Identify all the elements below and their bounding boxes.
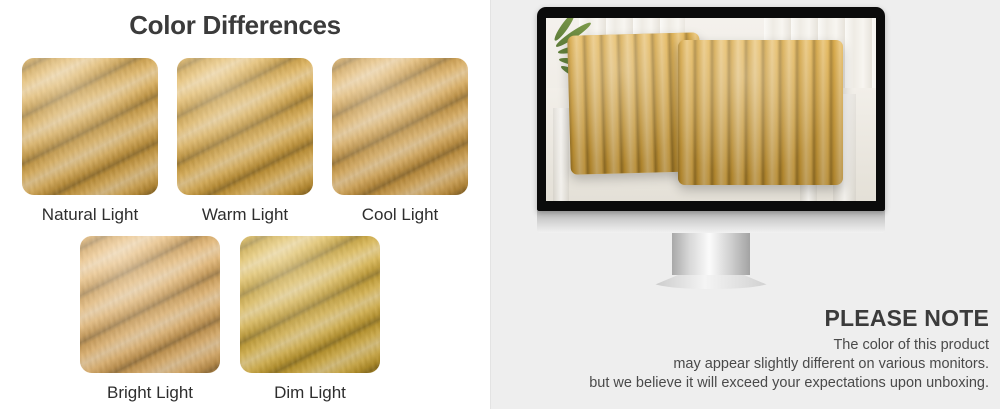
note-line-2: may appear slightly different on various… xyxy=(519,355,989,374)
swatch-cell-bright-light: Bright Light xyxy=(80,236,220,403)
monitor-stand-base xyxy=(652,275,770,289)
note-line-1: The color of this product xyxy=(519,336,989,355)
swatch-row-bottom: Bright Light Dim Light xyxy=(80,236,380,403)
monitor-bezel xyxy=(537,7,885,211)
note-line-3: but we believe it will exceed your expec… xyxy=(519,374,989,393)
monitor-screen-image xyxy=(546,18,876,201)
fabric-swatch-icon xyxy=(240,236,380,373)
monitor-stand-neck xyxy=(672,233,750,275)
color-differences-panel: Color Differences Natural Light Warm Lig… xyxy=(0,0,490,409)
swatch-label-natural-light: Natural Light xyxy=(42,205,138,225)
pillow-front xyxy=(678,40,843,185)
monitor-chin xyxy=(537,211,885,233)
swatch-label-cool-light: Cool Light xyxy=(362,205,439,225)
fabric-swatch-icon xyxy=(332,58,468,195)
page-title: Color Differences xyxy=(0,10,470,41)
note-title: PLEASE NOTE xyxy=(519,305,989,332)
please-note-panel: PLEASE NOTE The color of this product ma… xyxy=(490,0,1000,409)
swatch-label-dim-light: Dim Light xyxy=(274,383,346,403)
swatch-cell-natural-light: Natural Light xyxy=(22,58,158,225)
fabric-swatch-icon xyxy=(177,58,313,195)
swatch-cell-warm-light: Warm Light xyxy=(177,58,313,225)
swatch-cell-dim-light: Dim Light xyxy=(240,236,380,403)
swatch-label-bright-light: Bright Light xyxy=(107,383,193,403)
swatch-label-warm-light: Warm Light xyxy=(202,205,288,225)
fabric-swatch-icon xyxy=(22,58,158,195)
swatch-cell-cool-light: Cool Light xyxy=(332,58,468,225)
note-block: PLEASE NOTE The color of this product ma… xyxy=(519,305,989,393)
fabric-swatch-icon xyxy=(80,236,220,373)
promo-banner: Color Differences Natural Light Warm Lig… xyxy=(0,0,1000,409)
swatch-row-top: Natural Light Warm Light Cool Light xyxy=(22,58,468,225)
desktop-monitor-icon xyxy=(537,7,885,289)
